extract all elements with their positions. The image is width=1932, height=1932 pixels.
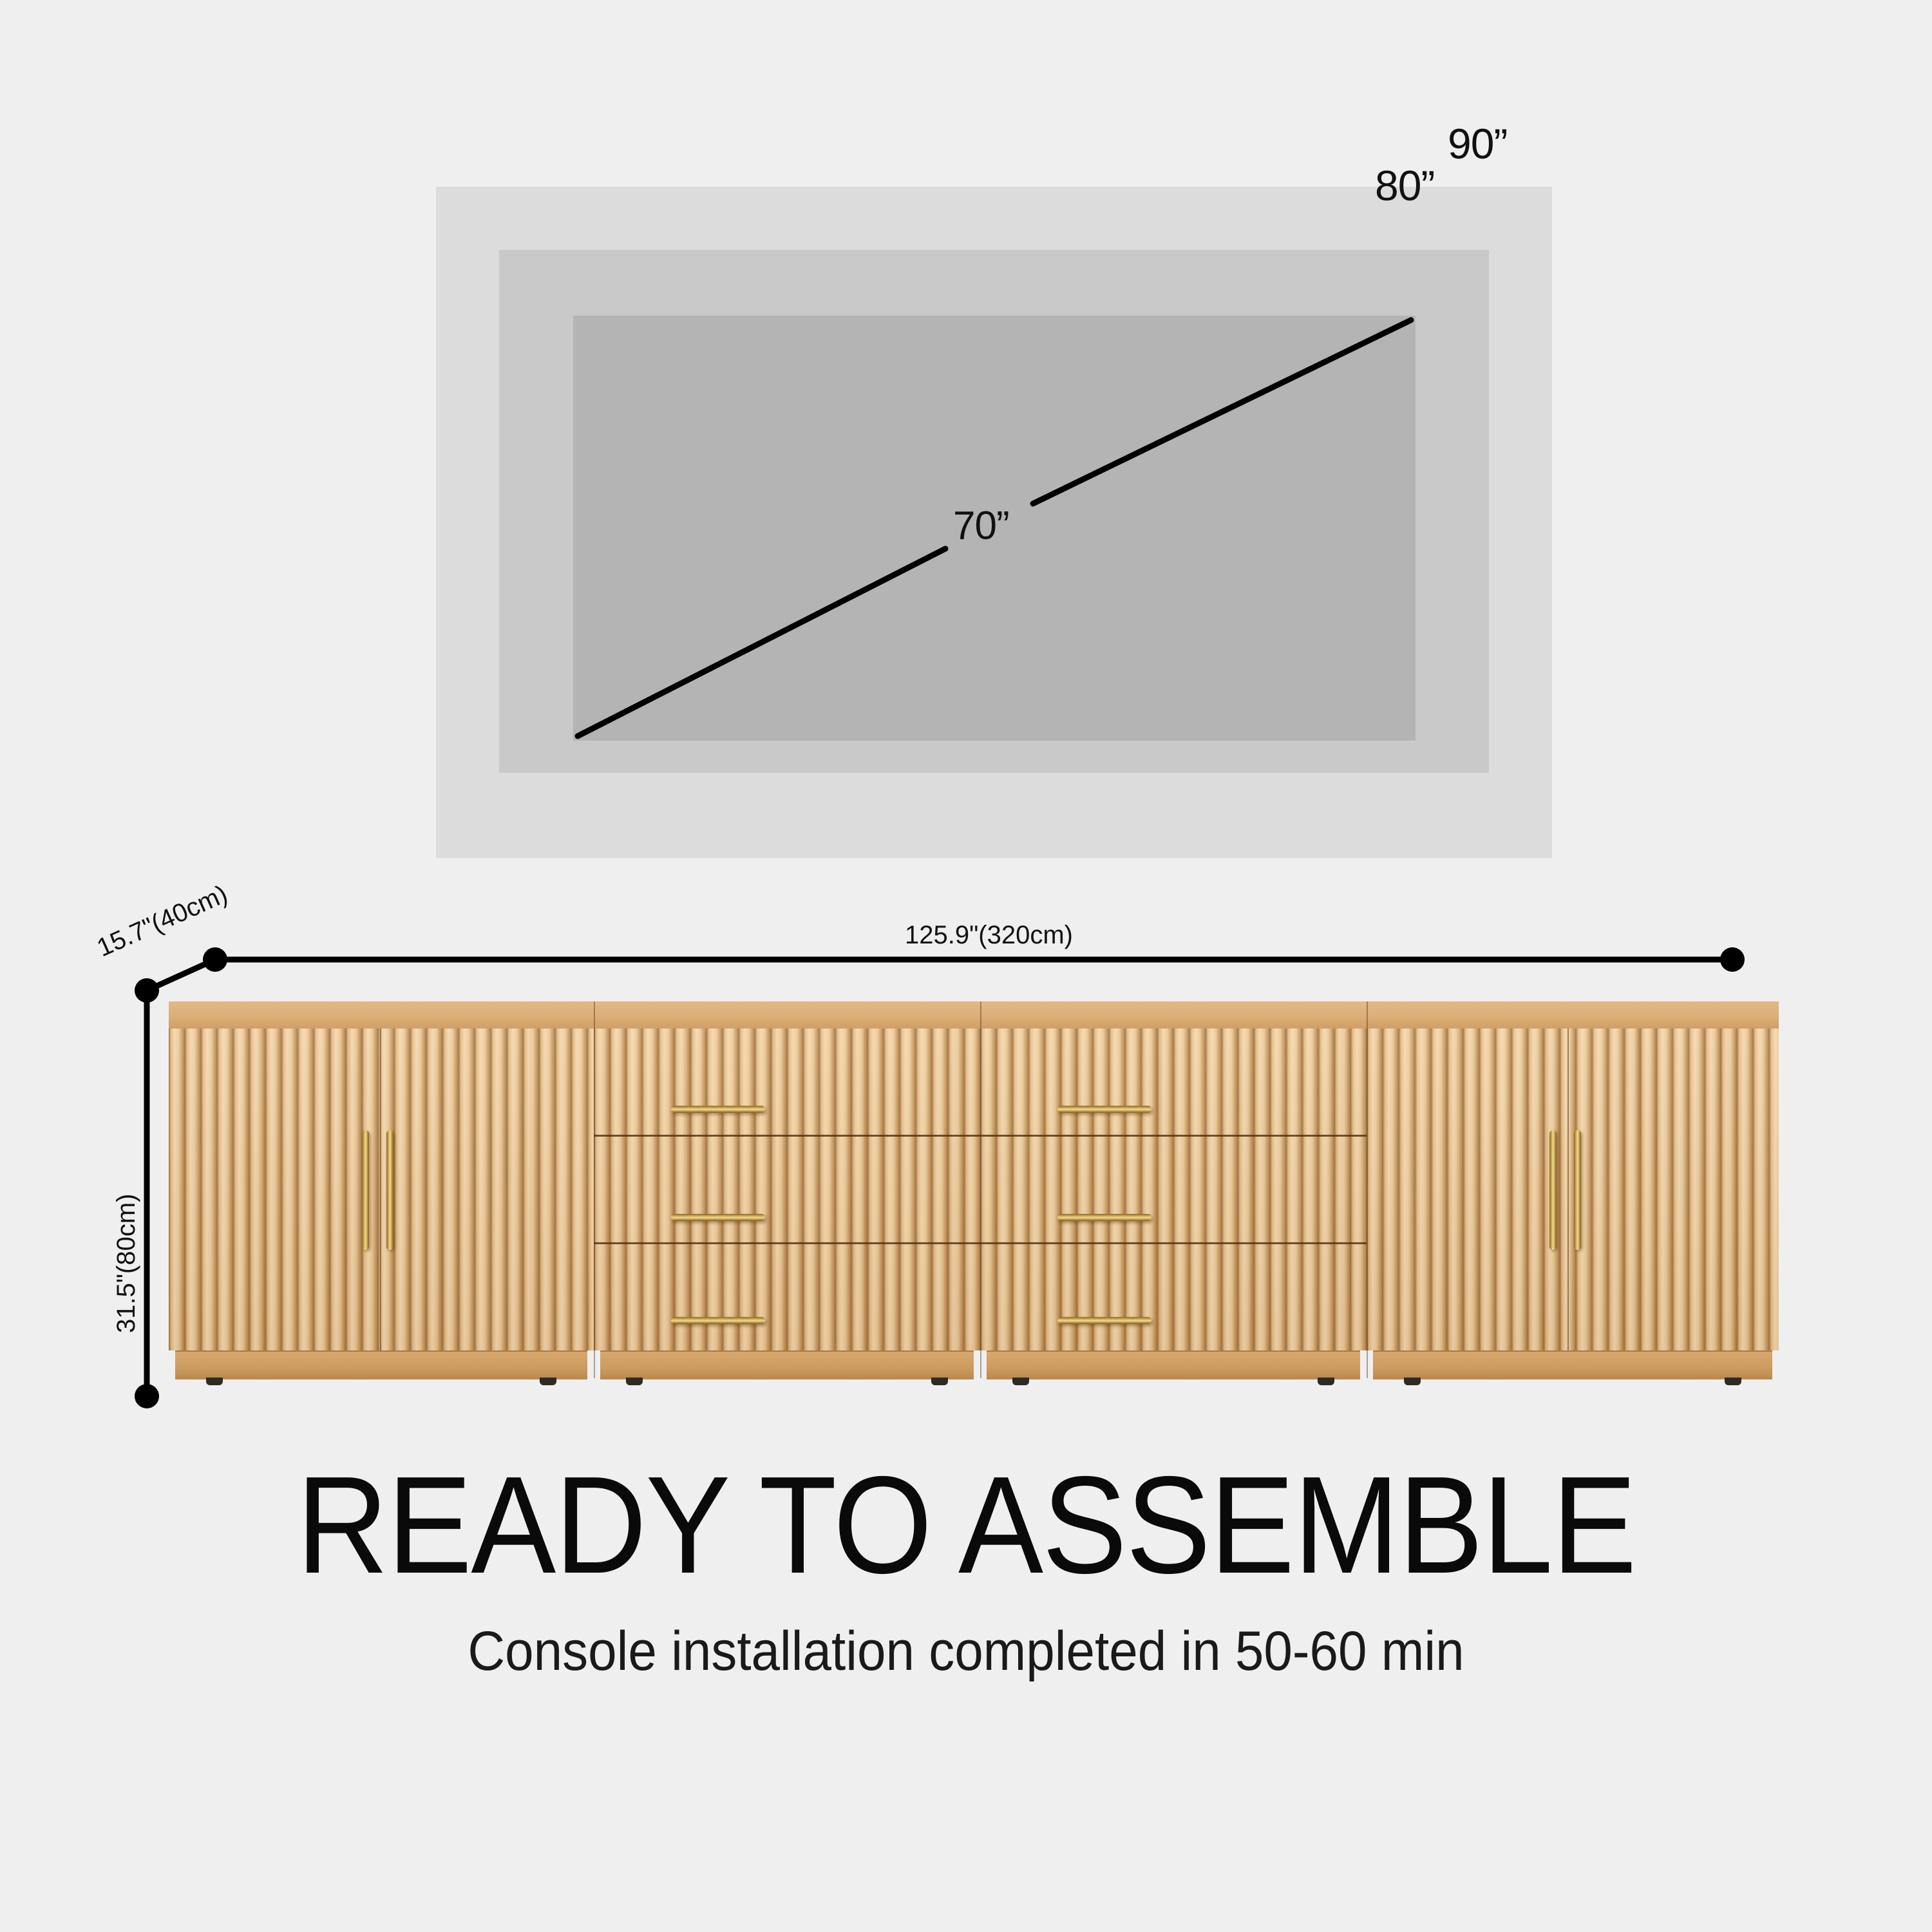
module-fluted-front (1367, 1028, 1779, 1350)
drawer-handle-middle[interactable] (671, 1214, 765, 1221)
module-seam (1367, 1001, 1368, 1378)
console-foot (931, 1378, 948, 1385)
module-plinth-base (175, 1350, 587, 1379)
headline-block: READY TO ASSEMBLE Console installation c… (0, 1455, 1932, 1679)
cabinet-handle-right[interactable] (386, 1130, 393, 1250)
module-plinth-base (1373, 1350, 1772, 1379)
console-foot (206, 1378, 223, 1385)
console-module-center-right-drawers[interactable] (980, 1001, 1367, 1378)
console-foot (1404, 1378, 1421, 1385)
drawer-seam (594, 1242, 980, 1244)
console-foot (1725, 1378, 1741, 1385)
console-foot (540, 1378, 556, 1385)
reed-shading-overlay (1367, 1028, 1779, 1350)
cabinet-door-seam (1567, 1028, 1569, 1350)
module-fluted-front (594, 1028, 980, 1350)
console-module-center-left-drawers[interactable] (594, 1001, 980, 1378)
reed-shading-overlay (594, 1028, 980, 1350)
drawer-handle-bottom[interactable] (1057, 1317, 1151, 1324)
wood-grain-overlay (1367, 1028, 1779, 1350)
module-top-surface (980, 1001, 1367, 1029)
console-foot (1012, 1378, 1029, 1385)
infographic-canvas: 90” 80” 70” 125.9"(320cm) 15.7"(40cm) 31… (0, 0, 1932, 1932)
drawer-seam (594, 1135, 980, 1137)
wood-grain-overlay (169, 1028, 594, 1350)
cabinet-handle-left[interactable] (1549, 1130, 1557, 1250)
page-title: READY TO ASSEMBLE (77, 1455, 1855, 1594)
cabinet-handle-right[interactable] (1574, 1130, 1581, 1250)
cabinet-door-seam (380, 1028, 381, 1350)
console-module-left-cabinet[interactable] (169, 1001, 594, 1378)
module-top-surface (1367, 1001, 1779, 1029)
drawer-handle-top[interactable] (671, 1106, 765, 1113)
drawer-seam (980, 1242, 1367, 1244)
tv-label-80-inch: 80” (1375, 164, 1434, 207)
module-plinth-base (987, 1350, 1360, 1379)
tv-size-comparison-diagram: 90” 80” 70” (0, 0, 1932, 902)
dimension-height-label: 31.5"(80cm) (113, 1193, 139, 1333)
console-module-right-cabinet[interactable] (1367, 1001, 1779, 1378)
module-seam (594, 1001, 595, 1378)
cabinet-handle-left[interactable] (362, 1130, 369, 1250)
module-top-surface (594, 1001, 980, 1029)
page-subtitle: Console installation completed in 50-60 … (68, 1624, 1864, 1679)
drawer-handle-middle[interactable] (1057, 1214, 1151, 1221)
tv-label-70-inch: 70” (953, 506, 1009, 546)
reed-shading-overlay (980, 1028, 1367, 1350)
console-illustration-block: 125.9"(320cm) 15.7"(40cm) 31.5"(80cm) (0, 902, 1932, 1436)
module-seam (980, 1001, 981, 1378)
drawer-handle-bottom[interactable] (671, 1317, 765, 1324)
module-plinth-base (600, 1350, 974, 1379)
drawer-seam (980, 1135, 1367, 1137)
reed-shading-overlay (169, 1028, 594, 1350)
wood-grain-overlay (594, 1028, 980, 1350)
tv-label-90-inch: 90” (1448, 122, 1507, 165)
wood-grain-overlay (980, 1028, 1367, 1350)
module-top-surface (169, 1001, 594, 1029)
fluted-wood-console (169, 1001, 1779, 1388)
dimension-width-label: 125.9"(320cm) (905, 922, 1073, 948)
module-fluted-front (980, 1028, 1367, 1350)
module-fluted-front (169, 1028, 594, 1350)
console-foot (626, 1378, 643, 1385)
console-foot (1318, 1378, 1334, 1385)
drawer-handle-top[interactable] (1057, 1106, 1151, 1113)
